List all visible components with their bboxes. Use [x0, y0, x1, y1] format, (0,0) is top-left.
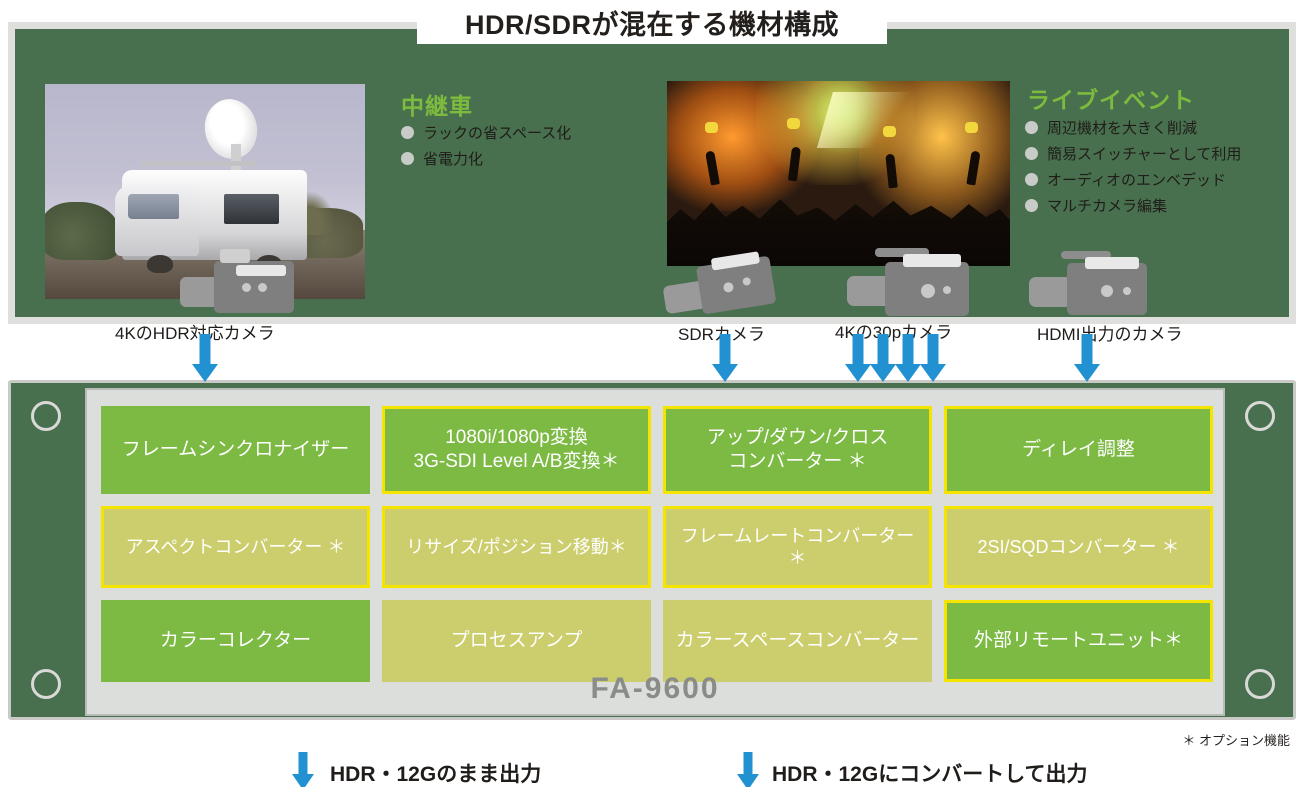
camera-icon-hdmi [1027, 247, 1155, 321]
output-label-direct: HDR・12Gのまま出力 [330, 758, 541, 787]
van-side-window [224, 194, 278, 224]
bullet-label: 省電力化 [423, 148, 483, 169]
crowd-glove [965, 122, 978, 133]
input-arrow-5 [895, 334, 921, 382]
bullet-dot-icon [1025, 121, 1038, 134]
mount-hole-icon [1245, 669, 1275, 699]
sources-panel: 中継車 ラックの省スペース化 省電力化 ライブイベント 周辺機材を大きく削減 簡… [8, 22, 1296, 324]
rack-unit: フレームシンクロナイザー 1080i/1080p変換 3G-SDI Level … [8, 380, 1296, 720]
feature-cell[interactable]: ディレイ調整 [944, 406, 1213, 494]
feature-cell[interactable]: アスペクトコンバーター ＊ [101, 506, 370, 588]
van-roof-rack [141, 161, 256, 166]
camera-caption-hdmi: HDMI出力のカメラ [1037, 320, 1182, 345]
crowd-glove [883, 126, 896, 137]
crowd-glove [787, 118, 800, 129]
bullet-label: マルチカメラ編集 [1047, 195, 1167, 216]
mount-hole-icon [31, 401, 61, 431]
bullet-dot-icon [1025, 199, 1038, 212]
feature-row-3: カラーコレクター プロセスアンプ カラースペースコンバーター 外部リモートユニッ… [101, 600, 1213, 682]
feature-cell[interactable]: リサイズ/ポジション移動＊ [382, 506, 651, 588]
van-heading: 中継車 [401, 87, 473, 121]
bullet-dot-icon [1025, 147, 1038, 160]
input-arrow-7 [1074, 334, 1100, 382]
input-arrow-3 [845, 334, 871, 382]
feature-cell[interactable]: フレームレートコンバーター＊ [663, 506, 932, 588]
feature-cell[interactable]: プロセスアンプ [382, 600, 651, 682]
live-heading: ライブイベント [1027, 81, 1195, 115]
feature-cell[interactable]: 1080i/1080p変換 3G-SDI Level A/B変換＊ [382, 406, 651, 494]
mount-hole-icon [1245, 401, 1275, 431]
diagram-canvas: 中継車 ラックの省スペース化 省電力化 ライブイベント 周辺機材を大きく削減 簡… [0, 0, 1304, 787]
input-arrow-6 [920, 334, 946, 382]
camera-icon-4k-hdr [180, 247, 308, 319]
list-item: ラックの省スペース化 [401, 122, 571, 143]
output-label-convert: HDR・12Gにコンバートして出力 [772, 758, 1088, 787]
bullet-label: 周辺機材を大きく削減 [1047, 117, 1197, 138]
bullet-dot-icon [401, 126, 414, 139]
spotlight-beam [817, 92, 922, 148]
feature-cell[interactable]: カラースペースコンバーター [663, 600, 932, 682]
list-item: マルチカメラ編集 [1025, 195, 1241, 216]
feature-cell[interactable]: カラーコレクター [101, 600, 370, 682]
optional-footnote: ＊ オプション機能 [1182, 730, 1290, 749]
feature-cell[interactable]: アップ/ダウン/クロス コンバーター ＊ [663, 406, 932, 494]
live-event-photo [667, 81, 1010, 266]
van-bullet-list: ラックの省スペース化 省電力化 [401, 122, 571, 174]
bullet-label: 簡易スイッチャーとして利用 [1047, 143, 1241, 164]
feature-row-2: アスペクトコンバーター ＊ リサイズ/ポジション移動＊ フレームレートコンバータ… [101, 506, 1213, 588]
input-arrow-4 [870, 334, 896, 382]
bullet-label: オーディオのエンベデッド [1047, 169, 1226, 190]
feature-cell[interactable]: 外部リモートユニット＊ [944, 600, 1213, 682]
rack-faceplate: フレームシンクロナイザー 1080i/1080p変換 3G-SDI Level … [85, 388, 1225, 716]
list-item: オーディオのエンベデッド [1025, 169, 1241, 190]
feature-cell[interactable]: フレームシンクロナイザー [101, 406, 370, 494]
output-arrow-1 [292, 752, 314, 787]
page-title-text: HDR/SDRが混在する機材構成 [465, 3, 839, 42]
list-item: 簡易スイッチャーとして利用 [1025, 143, 1241, 164]
dish-mast [231, 144, 241, 170]
rack-ear-right [1225, 383, 1293, 717]
crowd-glove [705, 122, 718, 133]
device-model-name: FA-9600 [87, 672, 1223, 706]
bullet-label: ラックの省スペース化 [423, 122, 571, 143]
camera-icon-4k-30p [845, 244, 975, 322]
feature-cell[interactable]: 2SI/SQDコンバーター ＊ [944, 506, 1213, 588]
van-wheel-front [147, 255, 173, 273]
mount-hole-icon [31, 669, 61, 699]
rack-ear-left [11, 383, 79, 717]
input-arrow-1 [192, 334, 218, 382]
list-item: 周辺機材を大きく削減 [1025, 117, 1241, 138]
input-arrow-2 [712, 334, 738, 382]
feature-row-1: フレームシンクロナイザー 1080i/1080p変換 3G-SDI Level … [101, 406, 1213, 494]
van-bush-left [45, 202, 119, 260]
van-windshield [128, 194, 179, 220]
list-item: 省電力化 [401, 148, 571, 169]
output-arrow-2 [737, 752, 759, 787]
bullet-dot-icon [401, 152, 414, 165]
live-bullet-list: 周辺機材を大きく削減 簡易スイッチャーとして利用 オーディオのエンベデッド マル… [1025, 117, 1241, 221]
page-title: HDR/SDRが混在する機材構成 [417, 0, 887, 44]
bullet-dot-icon [1025, 173, 1038, 186]
